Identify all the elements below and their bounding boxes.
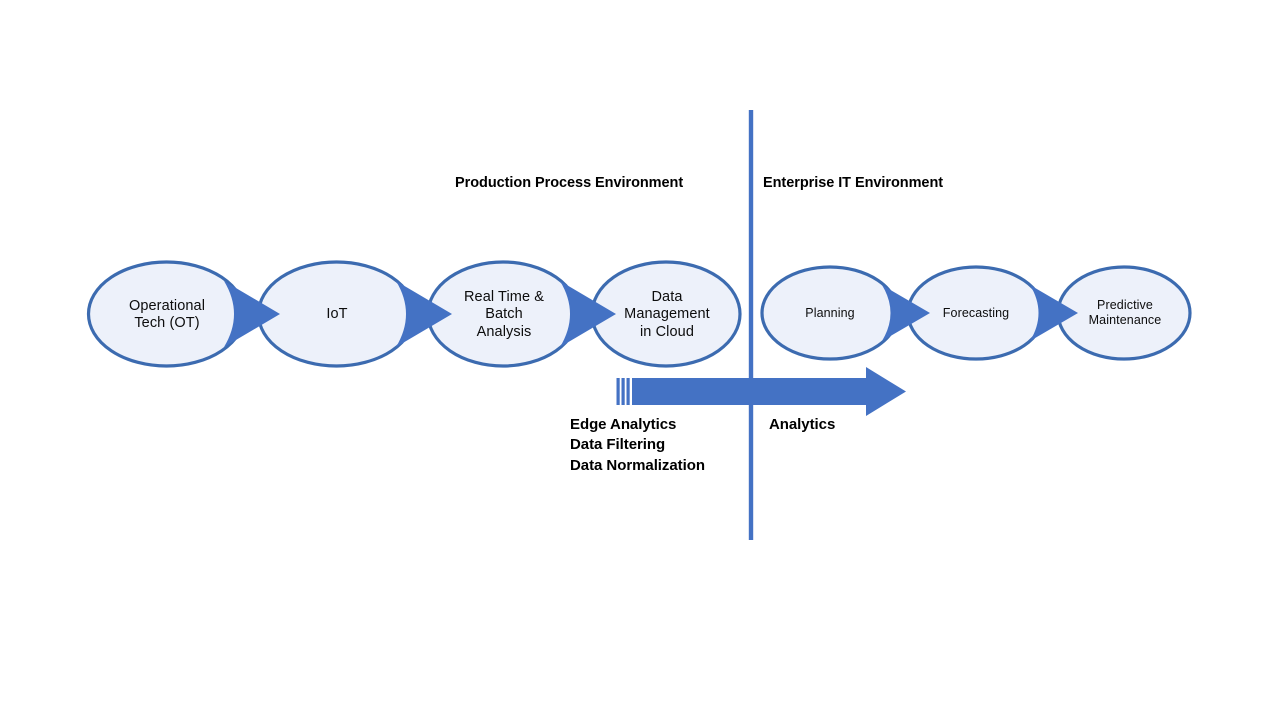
- node-label-forecasting: Forecasting: [916, 295, 1036, 331]
- environment-label-enterprise-it: Enterprise IT Environment: [763, 174, 1063, 194]
- node-label-planning: Planning: [770, 295, 890, 331]
- node-label-iot: IoT: [266, 288, 408, 342]
- analytics-flow-arrow: [617, 367, 907, 416]
- annotation-enterprise-analytics: Analytics: [769, 415, 929, 435]
- diagram-graphics: [0, 0, 1280, 720]
- diagram-canvas: Production Process Environment Enterpris…: [0, 0, 1280, 720]
- environment-label-production-process: Production Process Environment: [455, 174, 745, 194]
- node-label-data-management-in-cloud: Data Management in Cloud: [600, 281, 734, 349]
- node-label-predictive-maintenance: Predictive Maintenance: [1066, 288, 1184, 338]
- node-label-real-time-batch-analysis: Real Time & Batch Analysis: [440, 281, 568, 349]
- annotation-edge-processing: Edge Analytics Data Filtering Data Norma…: [570, 415, 770, 476]
- node-label-operational-tech: Operational Tech (OT): [96, 288, 238, 342]
